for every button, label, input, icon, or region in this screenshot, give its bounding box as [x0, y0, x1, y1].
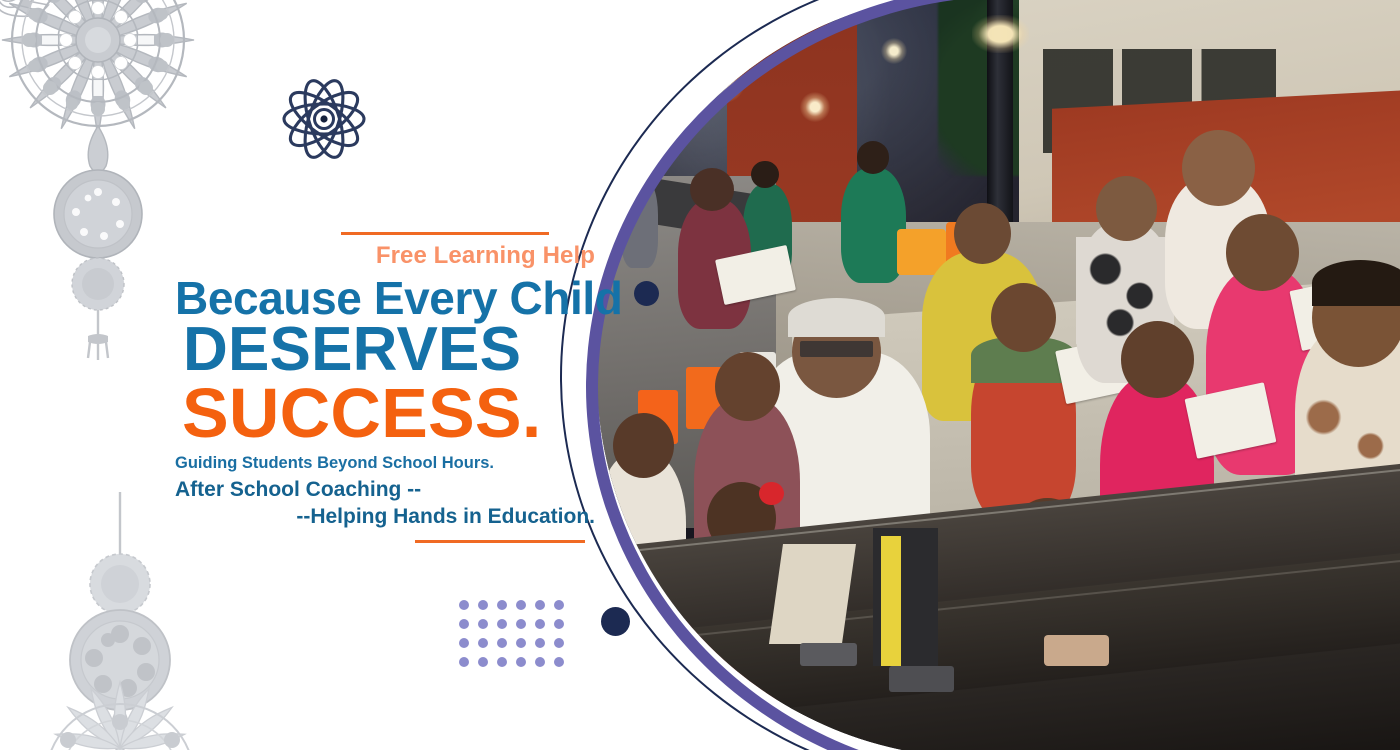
- subtext-line-1: Guiding Students Beyond School Hours.: [175, 453, 595, 474]
- eyebrow-text: Free Learning Help: [175, 244, 595, 268]
- subtext-line-3: --Helping Hands in Education.: [175, 504, 595, 530]
- eyebrow-rule: [341, 232, 549, 235]
- dot-grid-decoration: [459, 600, 573, 676]
- arc-node-dot-top: [634, 281, 659, 306]
- hero-banner: Free Learning Help Because Every Child D…: [0, 0, 1400, 750]
- bottom-rule: [415, 540, 585, 543]
- hero-photo: [597, 0, 1400, 750]
- headline-line-3: SUCCESS.: [182, 380, 595, 447]
- mandala-corner-ornament: [0, 0, 72, 70]
- atom-icon: [278, 73, 370, 165]
- headline-block: Free Learning Help Because Every Child D…: [175, 232, 595, 543]
- arc-node-dot-bottom: [601, 607, 630, 636]
- headline-line-2: DESERVES: [183, 321, 595, 380]
- subtext-line-2: After School Coaching --: [175, 477, 595, 503]
